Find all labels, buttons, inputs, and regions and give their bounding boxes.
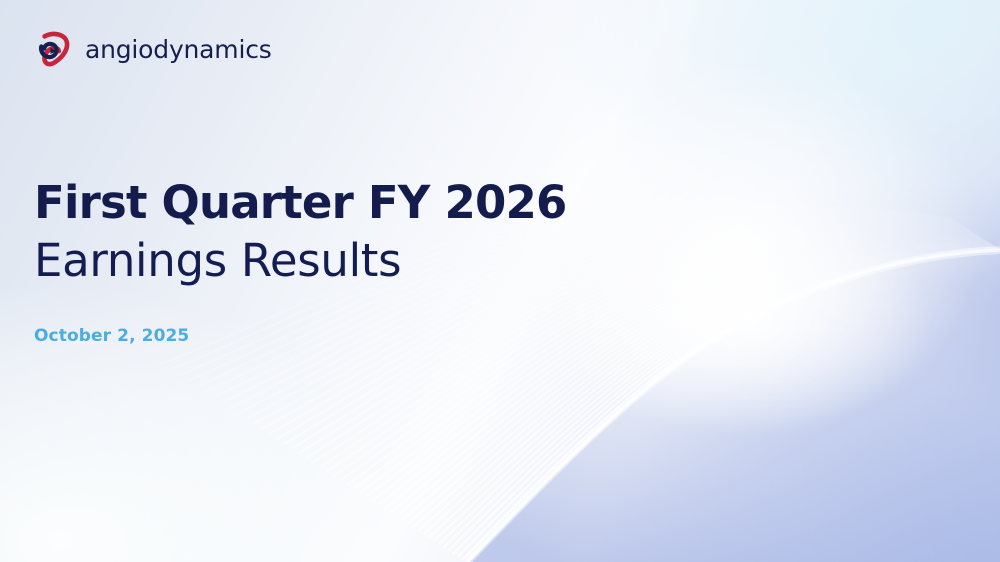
- slide-title-secondary: Earnings Results: [34, 238, 674, 283]
- slide-title-primary: First Quarter FY 2026: [34, 180, 674, 225]
- title-slide: angiodynamics First Quarter FY 2026 Earn…: [0, 0, 1000, 562]
- title-block: First Quarter FY 2026 Earnings Results O…: [34, 180, 674, 345]
- slide-date: October 2, 2025: [34, 328, 674, 345]
- brand-wordmark: angiodynamics: [85, 37, 272, 62]
- brand-logo[interactable]: angiodynamics: [32, 28, 272, 70]
- angiodynamics-logo-mark-icon: [32, 28, 74, 70]
